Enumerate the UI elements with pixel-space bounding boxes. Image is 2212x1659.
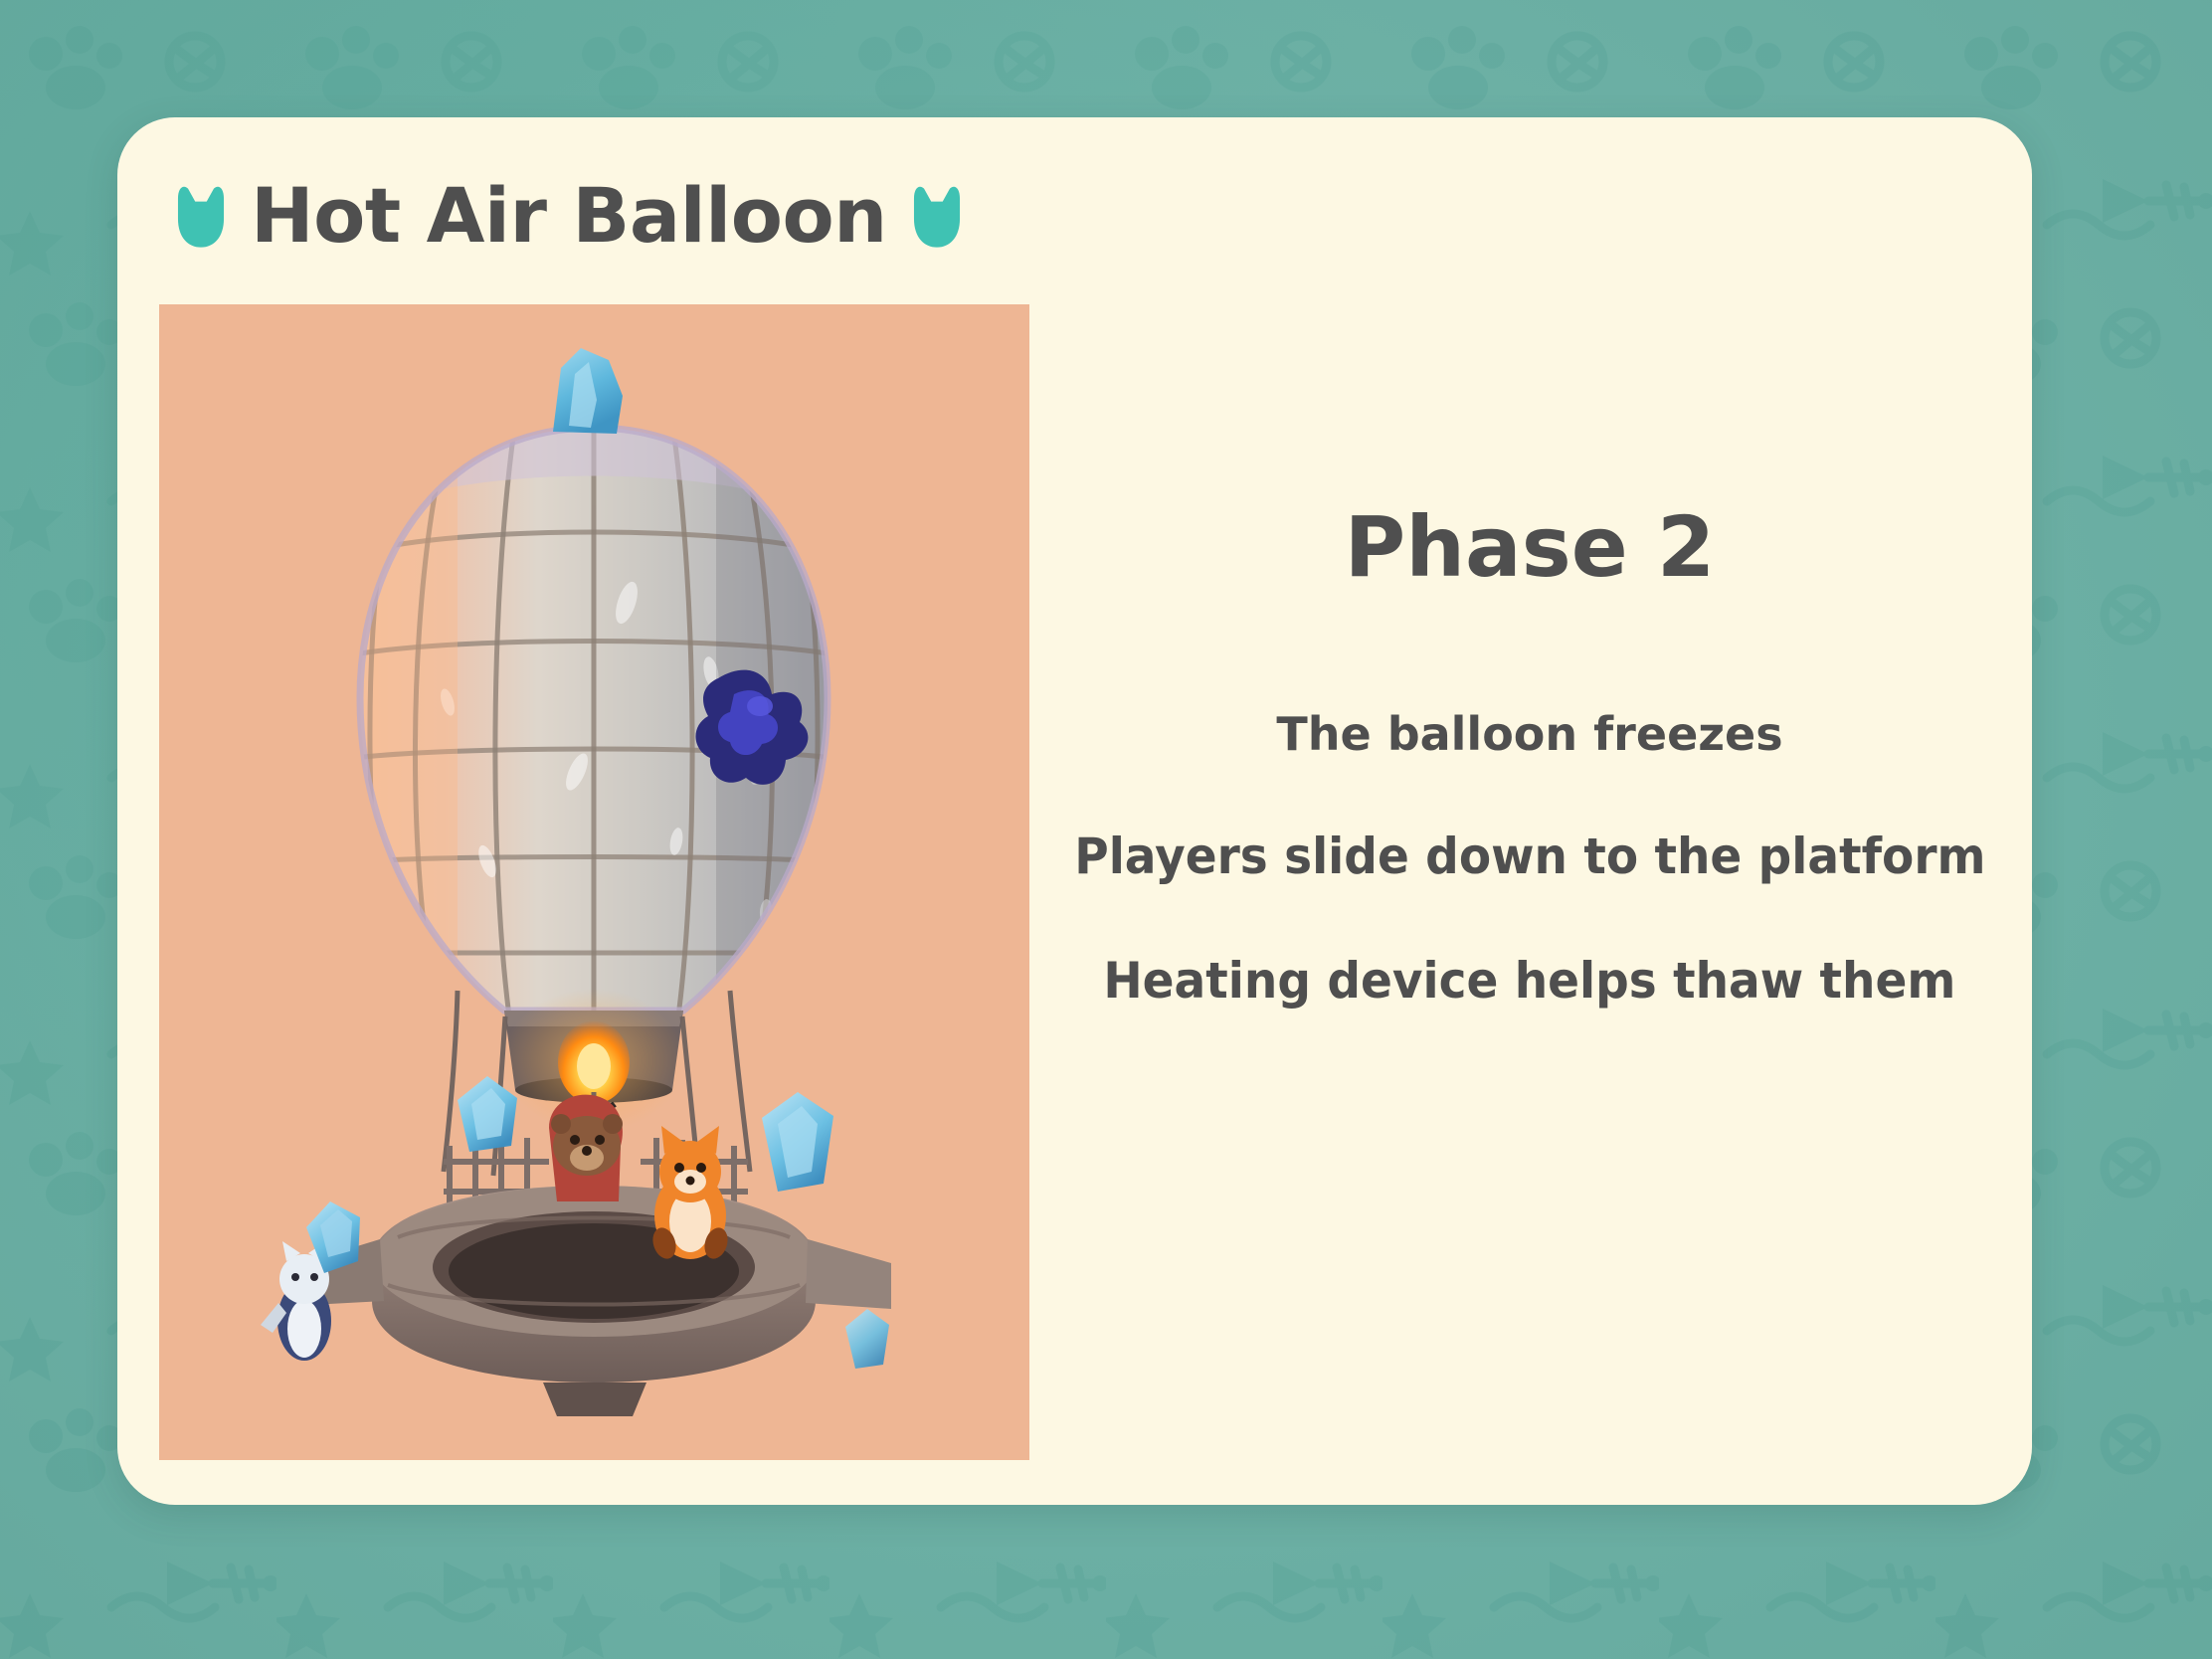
- phase-description: Phase 2 The balloon freezes Players slid…: [1032, 346, 2027, 1450]
- hot-air-balloon-illustration: [159, 304, 1029, 1460]
- cat-head-icon: [165, 180, 237, 252]
- phase-heading: Phase 2: [1345, 505, 1716, 589]
- fox-character: [649, 1126, 732, 1262]
- page-title: Hot Air Balloon: [165, 161, 973, 271]
- bear-character: [549, 1095, 623, 1201]
- phase-bullet-2: Players slide down to the platform: [1074, 829, 1985, 886]
- content-card: Hot Air Balloon: [117, 117, 2032, 1505]
- ice-crystal-top: [553, 348, 623, 434]
- phase-bullet-3: Heating device helps thaw them: [1104, 953, 1956, 1011]
- cat-head-icon: [901, 180, 973, 252]
- page-title-text: Hot Air Balloon: [245, 178, 893, 254]
- phase-bullet-1: The balloon freezes: [1276, 708, 1782, 761]
- slide-root: Hot Air Balloon: [0, 0, 2212, 1659]
- balloon-image-panel: [159, 304, 1029, 1460]
